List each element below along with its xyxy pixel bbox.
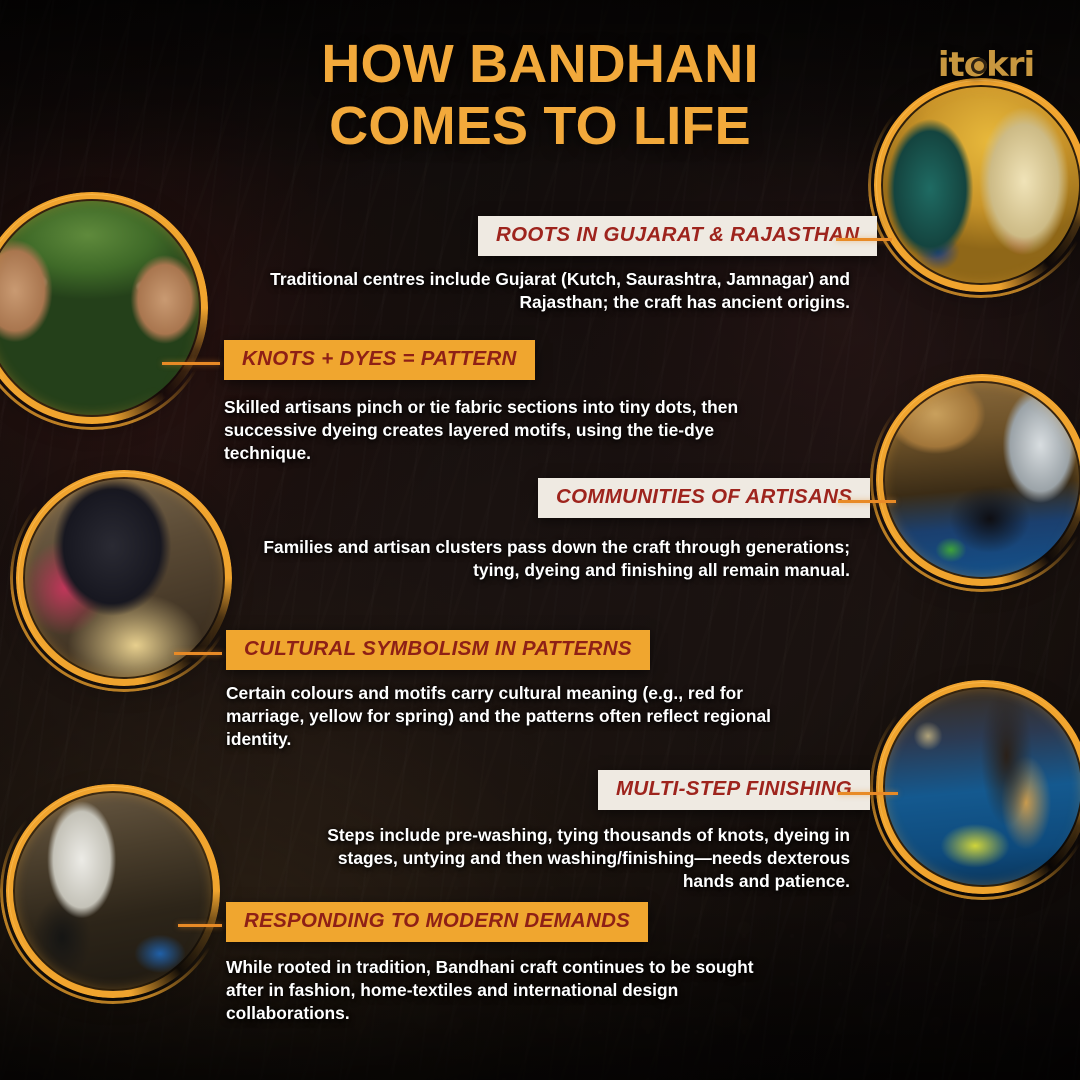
section-responding-modern-demands: RESPONDING TO MODERN DEMANDS [226,902,648,942]
logo-dot-icon [971,58,987,74]
page-title: HOW BANDHANI COMES TO LIFE [0,34,1080,157]
section-roots-gujarat-rajasthan: ROOTS IN GUJARAT & RAJASTHAN [478,216,850,256]
photo-circle-yellow-skein [6,784,220,998]
section-body-modern: While rooted in tradition, Bandhani craf… [226,956,782,1025]
photo-circle-tying-red [0,192,208,424]
connector-line [836,238,892,241]
photo-ring-hairline [878,682,1080,892]
section-body-finishing: Steps include pre-washing, tying thousan… [320,824,850,893]
connector-line [838,500,896,503]
connector-line [174,652,222,655]
section-body-cultural: Certain colours and motifs carry cultura… [226,682,786,751]
section-multi-step-finishing: MULTI-STEP FINISHING [598,770,850,810]
section-heading-finishing[interactable]: MULTI-STEP FINISHING [598,770,870,810]
section-heading-modern[interactable]: RESPONDING TO MODERN DEMANDS [226,902,648,942]
section-body-communities: Families and artisan clusters pass down … [236,536,850,582]
section-body-knots: Skilled artisans pinch or tie fabric sec… [224,396,758,465]
section-heading-roots[interactable]: ROOTS IN GUJARAT & RAJASTHAN [478,216,877,256]
photo-circle-dyer-vat [876,374,1080,586]
title-line-2: COMES TO LIFE [150,96,930,158]
connector-line [838,792,898,795]
section-heading-communities[interactable]: COMMUNITIES OF ARTISANS [538,478,870,518]
infographic-poster: HOW BANDHANI COMES TO LIFE itokri [0,0,1080,1080]
connector-line [178,924,222,927]
photo-circle-dye-bath [876,680,1080,894]
title-line-1: HOW BANDHANI [150,34,930,96]
section-communities-of-artisans: COMMUNITIES OF ARTISANS [538,478,850,518]
section-heading-knots[interactable]: KNOTS + DYES = PATTERN [224,340,535,380]
section-cultural-symbolism: CULTURAL SYMBOLISM IN PATTERNS [226,630,650,670]
connector-line [162,362,220,365]
section-knots-dyes-pattern: KNOTS + DYES = PATTERN [224,340,535,380]
section-body-roots: Traditional centres include Gujarat (Kut… [266,268,850,314]
photo-ring-hairline [8,786,218,996]
section-heading-cultural[interactable]: CULTURAL SYMBOLISM IN PATTERNS [226,630,650,670]
photo-ring-hairline [878,376,1080,584]
brand-logo-itokri[interactable]: itokri [926,42,1046,88]
